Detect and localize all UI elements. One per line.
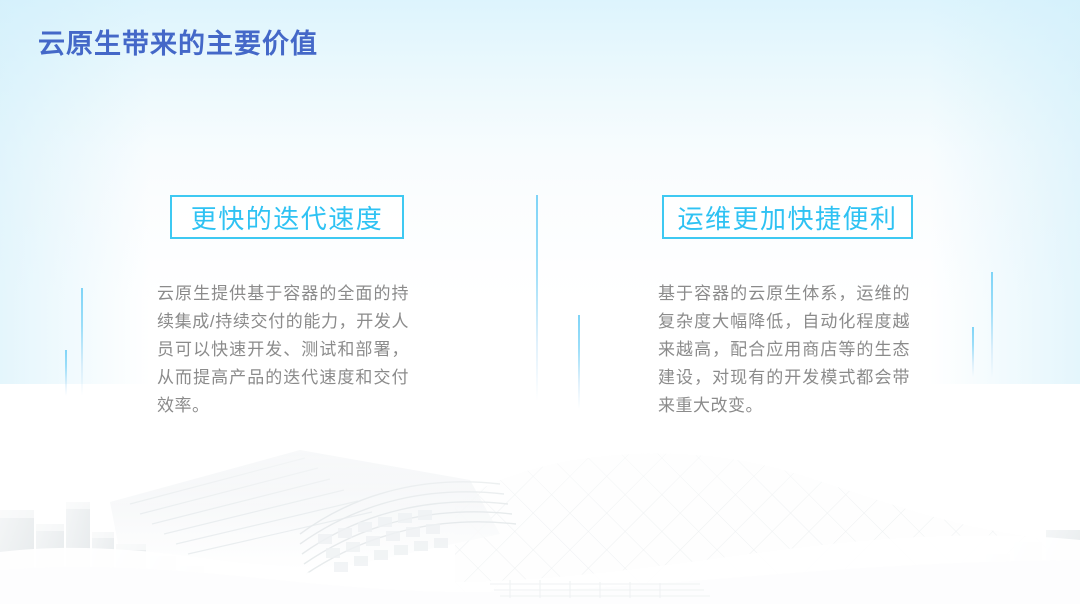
column-2-body-text: 基于容器的云原生体系，运维的复杂度大幅降低，自动化程度越来越高，配合应用商店等的…	[658, 280, 910, 420]
column-1-body-text: 云原生提供基于容器的全面的持续集成/持续交付的能力，开发人员可以快速开发、测试和…	[157, 280, 409, 420]
column-2-heading-box: 运维更加快捷便利	[662, 195, 913, 239]
page-title: 云原生带来的主要价值	[38, 22, 318, 61]
decorative-rule-right-tall	[991, 272, 993, 378]
column-2-heading-label: 运维更加快捷便利	[677, 199, 897, 236]
slide-canvas: 云原生带来的主要价值 更快的迭代速度 云原生提供基于容器的全面的持续集成/持续交…	[0, 0, 1080, 604]
left-edge-tint	[0, 0, 150, 604]
column-1-heading-label: 更快的迭代速度	[191, 199, 384, 236]
decorative-rule-middle-short	[578, 315, 580, 409]
column-1-heading-box: 更快的迭代速度	[170, 195, 404, 239]
decorative-rule-middle-tall	[536, 195, 538, 401]
decorative-rule-right-short	[972, 327, 974, 377]
right-edge-tint	[930, 0, 1080, 604]
decorative-rule-left-tall	[81, 288, 83, 396]
decorative-rule-left-short	[65, 350, 67, 396]
